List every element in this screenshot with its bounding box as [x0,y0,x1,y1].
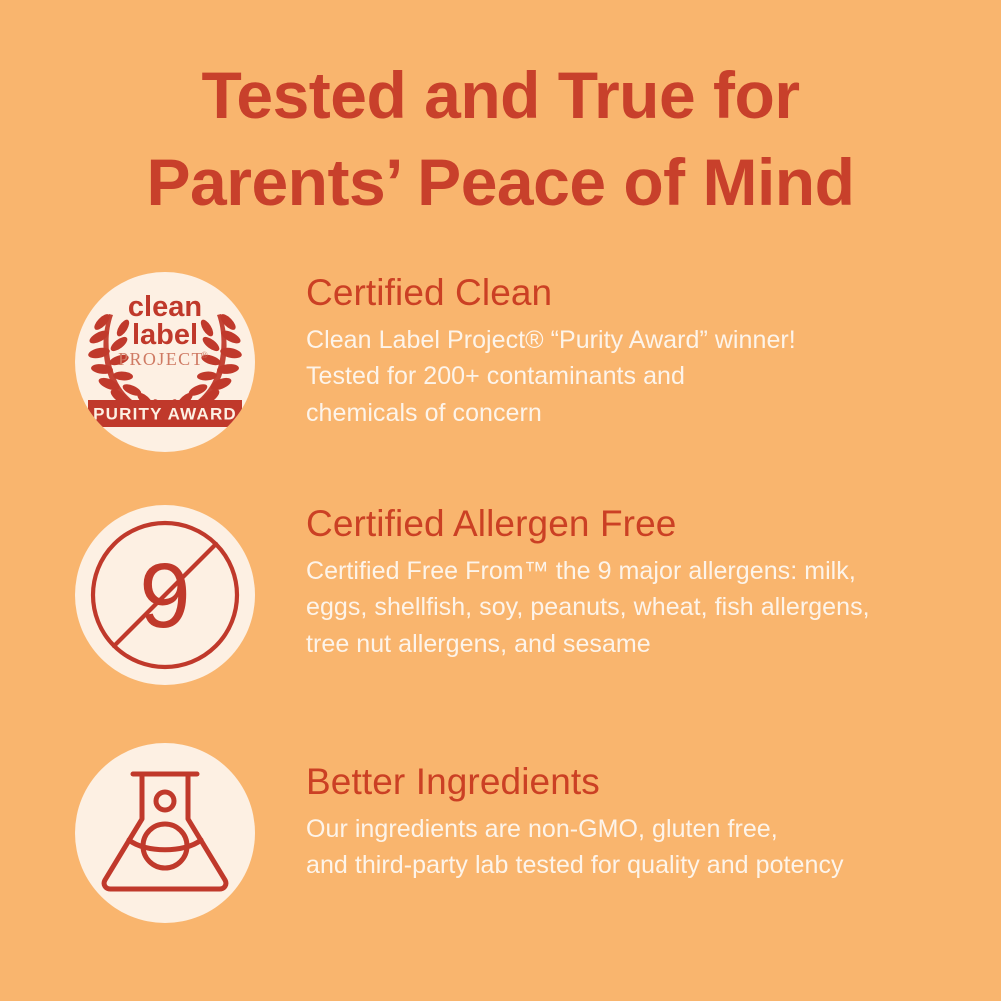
feature-title: Better Ingredients [306,763,983,802]
page-title-line-2: Parents’ Peace of Mind [0,139,1001,226]
flask-liquid-line [129,840,201,850]
feature-row-better-ingredients: Better Ingredients Our ingredients are n… [0,733,1001,933]
feature-body: Our ingredients are non-GMO, gluten free… [306,811,983,884]
feature-title: Certified Clean [306,274,983,313]
badge-registered-mark: ® [201,350,208,360]
feature-text-certified-clean: Certified Clean Clean Label Project® “Pu… [306,274,983,431]
feature-body: Clean Label Project® “Purity Award” winn… [306,322,983,432]
feature-body-line: tree nut allergens, and sesame [306,626,983,663]
feature-body: Certified Free From™ the 9 major allerge… [306,553,983,663]
feature-body-line: and third-party lab tested for quality a… [306,847,983,884]
page-title: Tested and True for Parents’ Peace of Mi… [0,52,1001,226]
lab-flask-icon [75,743,255,923]
feature-row-certified-allergen-free: 9 Certified Allergen Free Certified Free… [0,495,1001,695]
badge-word-label: label [132,319,198,351]
feature-body-line: Certified Free From™ the 9 major allerge… [306,553,983,590]
feature-body-line: chemicals of concern [306,395,983,432]
feature-row-certified-clean: clean label PROJECT ® PURITY AWARD Certi… [0,262,1001,462]
clean-label-project-badge-icon: clean label PROJECT ® PURITY AWARD [75,272,255,452]
flask-bubble-large [143,824,187,868]
page-title-line-1: Tested and True for [0,52,1001,139]
feature-body-line: Our ingredients are non-GMO, gluten free… [306,811,983,848]
feature-title: Certified Allergen Free [306,505,983,544]
flask-bubble-small [156,792,174,810]
clean-label-project-badge-artwork: clean label PROJECT ® PURITY AWARD [75,272,255,452]
allergen-count-number: 9 [139,545,190,647]
no-nine-allergens-artwork: 9 [75,505,255,685]
feature-text-better-ingredients: Better Ingredients Our ingredients are n… [306,763,983,884]
feature-text-certified-allergen-free: Certified Allergen Free Certified Free F… [306,505,983,662]
feature-body-line: eggs, shellfish, soy, peanuts, wheat, fi… [306,589,983,626]
feature-body-line: Tested for 200+ contaminants and [306,358,983,395]
no-nine-allergens-icon: 9 [75,505,255,685]
lab-flask-artwork [75,743,255,923]
badge-word-project: PROJECT [118,349,204,369]
feature-body-line: Clean Label Project® “Purity Award” winn… [306,322,983,359]
purity-award-banner-text: PURITY AWARD [93,405,237,424]
